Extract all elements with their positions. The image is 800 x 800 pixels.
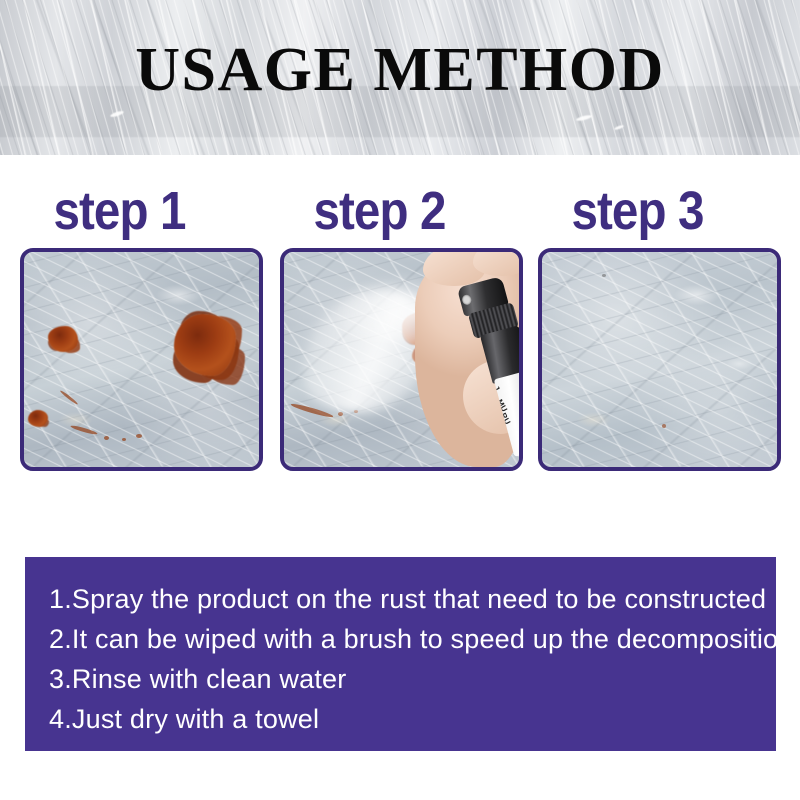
surface-speck (602, 274, 606, 277)
step-3-label: step 3 (538, 182, 752, 248)
clean-metal-plate-image (542, 252, 777, 467)
finger (473, 248, 523, 276)
instructions-panel: 1.Spray the product on the rust that nee… (25, 557, 776, 751)
step-2-label: step 2 (280, 182, 494, 248)
bottle-label-line-3: RU (499, 411, 513, 426)
step-1: step 1 (20, 182, 263, 471)
rust-speck (662, 424, 666, 428)
header-banner: USAGE METHOD (0, 0, 800, 155)
usage-method-infographic: USAGE METHOD step 1 step 2 (0, 0, 800, 800)
page-title: USAGE METHOD (0, 36, 800, 104)
rust-speck (338, 412, 343, 416)
step-2-image-frame: J MU RU (280, 248, 523, 471)
metal-scratch-highlight (110, 110, 125, 118)
step-2: step 2 (280, 182, 523, 471)
rust-speck (104, 436, 109, 440)
bottle-body-label: J MU RU (494, 369, 523, 457)
step-1-label: step 1 (20, 182, 234, 248)
instruction-line-1: 1.Spray the product on the rust that nee… (49, 579, 776, 619)
step-1-image-frame (20, 248, 263, 471)
rust-patch (48, 326, 78, 352)
metal-scratch-highlight (614, 124, 624, 130)
instructions-list: 1.Spray the product on the rust that nee… (25, 557, 776, 739)
bottle-label-line-2: MU (495, 398, 509, 414)
bottle-label-line-1: J (494, 384, 502, 393)
rust-speck (122, 438, 126, 441)
instruction-line-2: 2.It can be wiped with a brush to speed … (49, 619, 776, 659)
step-3: step 3 (538, 182, 781, 471)
instruction-line-3: 3.Rinse with clean water (49, 659, 776, 699)
rust-speck (136, 434, 142, 438)
rust-patch (28, 410, 48, 427)
step-3-image-frame (538, 248, 781, 471)
metal-scratch-highlight (576, 114, 592, 122)
instruction-line-4: 4.Just dry with a towel (49, 699, 776, 739)
steps-row: step 1 step 2 (0, 182, 800, 512)
